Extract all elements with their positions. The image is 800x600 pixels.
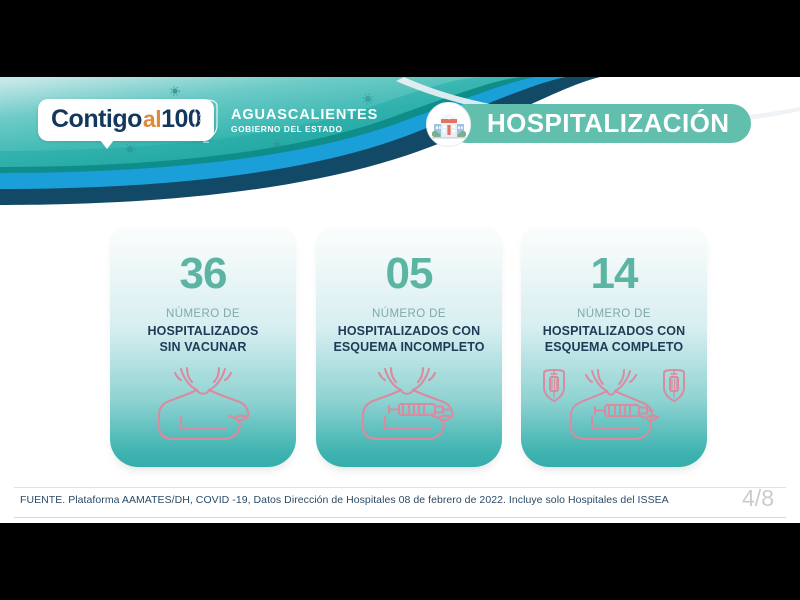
stat-kicker: NÚMERO DE: [521, 308, 707, 320]
contigo-al-100-logo: Contigo al 100: [38, 99, 214, 141]
arm-syringe-two-shields-icon: [521, 364, 707, 446]
page-number: 4/8: [742, 485, 774, 512]
footer-divider-bottom: [14, 517, 786, 518]
gov-logo-text: AGUASCALIENTES GOBIERNO DEL ESTADO: [231, 108, 378, 134]
coat-of-arms-icon: [190, 97, 222, 145]
stats-card-row: 36 NÚMERO DE HOSPITALIZADOS SIN VACUNAR: [0, 227, 800, 477]
stat-title: HOSPITALIZADOS CON ESQUEMA INCOMPLETO: [316, 323, 502, 355]
stat-title-line1: HOSPITALIZADOS CON: [322, 323, 496, 339]
logo-text-contigo: Contigo: [51, 105, 142, 134]
shield-right-icon: [664, 370, 684, 401]
footer-divider-top: [14, 487, 786, 488]
stat-title-line2: ESQUEMA COMPLETO: [527, 339, 701, 355]
arm-outline-glyph: [151, 365, 255, 445]
stat-title-line2: SIN VACUNAR: [116, 339, 290, 355]
stat-title: HOSPITALIZADOS SIN VACUNAR: [110, 323, 296, 355]
hospital-building-icon: [426, 102, 471, 147]
stat-title-line1: HOSPITALIZADOS CON: [527, 323, 701, 339]
stat-card-incomplete-scheme: 05 NÚMERO DE HOSPITALIZADOS CON ESQUEMA …: [316, 227, 502, 467]
stat-title-line2: ESQUEMA INCOMPLETO: [322, 339, 496, 355]
section-title-pill: HOSPITALIZACIÓN: [447, 104, 751, 143]
source-note: FUENTE. Plataforma AAMATES/DH, COVID -19…: [20, 494, 669, 506]
arm-syringe-shields-glyph: [538, 365, 690, 445]
stat-card-unvaccinated: 36 NÚMERO DE HOSPITALIZADOS SIN VACUNAR: [110, 227, 296, 467]
presentation-slide: Contigo al 100: [0, 77, 800, 523]
stat-title: HOSPITALIZADOS CON ESQUEMA COMPLETO: [521, 323, 707, 355]
stat-kicker: NÚMERO DE: [110, 308, 296, 320]
aguascalientes-gov-logo: AGUASCALIENTES GOBIERNO DEL ESTADO: [190, 97, 378, 145]
shield-left-icon: [544, 370, 564, 401]
arm-syringe-glyph: [353, 365, 465, 445]
gov-name: AGUASCALIENTES: [231, 108, 378, 124]
gov-subtitle: GOBIERNO DEL ESTADO: [231, 125, 378, 134]
page-title: HOSPITALIZACIÓN: [487, 108, 729, 139]
arm-syringe-icon: [316, 364, 502, 446]
stat-number: 05: [316, 249, 502, 299]
hospital-building-glyph: [432, 110, 466, 140]
stat-title-line1: HOSPITALIZADOS: [116, 323, 290, 339]
stat-card-complete-scheme: 14 NÚMERO DE HOSPITALIZADOS CON ESQUEMA …: [521, 227, 707, 467]
stat-number: 36: [110, 249, 296, 299]
stat-number: 14: [521, 249, 707, 299]
logo-text-al: al: [143, 106, 161, 133]
stat-kicker: NÚMERO DE: [316, 308, 502, 320]
arm-unvaccinated-icon: [110, 364, 296, 446]
slide-stage: Contigo al 100: [0, 0, 800, 600]
